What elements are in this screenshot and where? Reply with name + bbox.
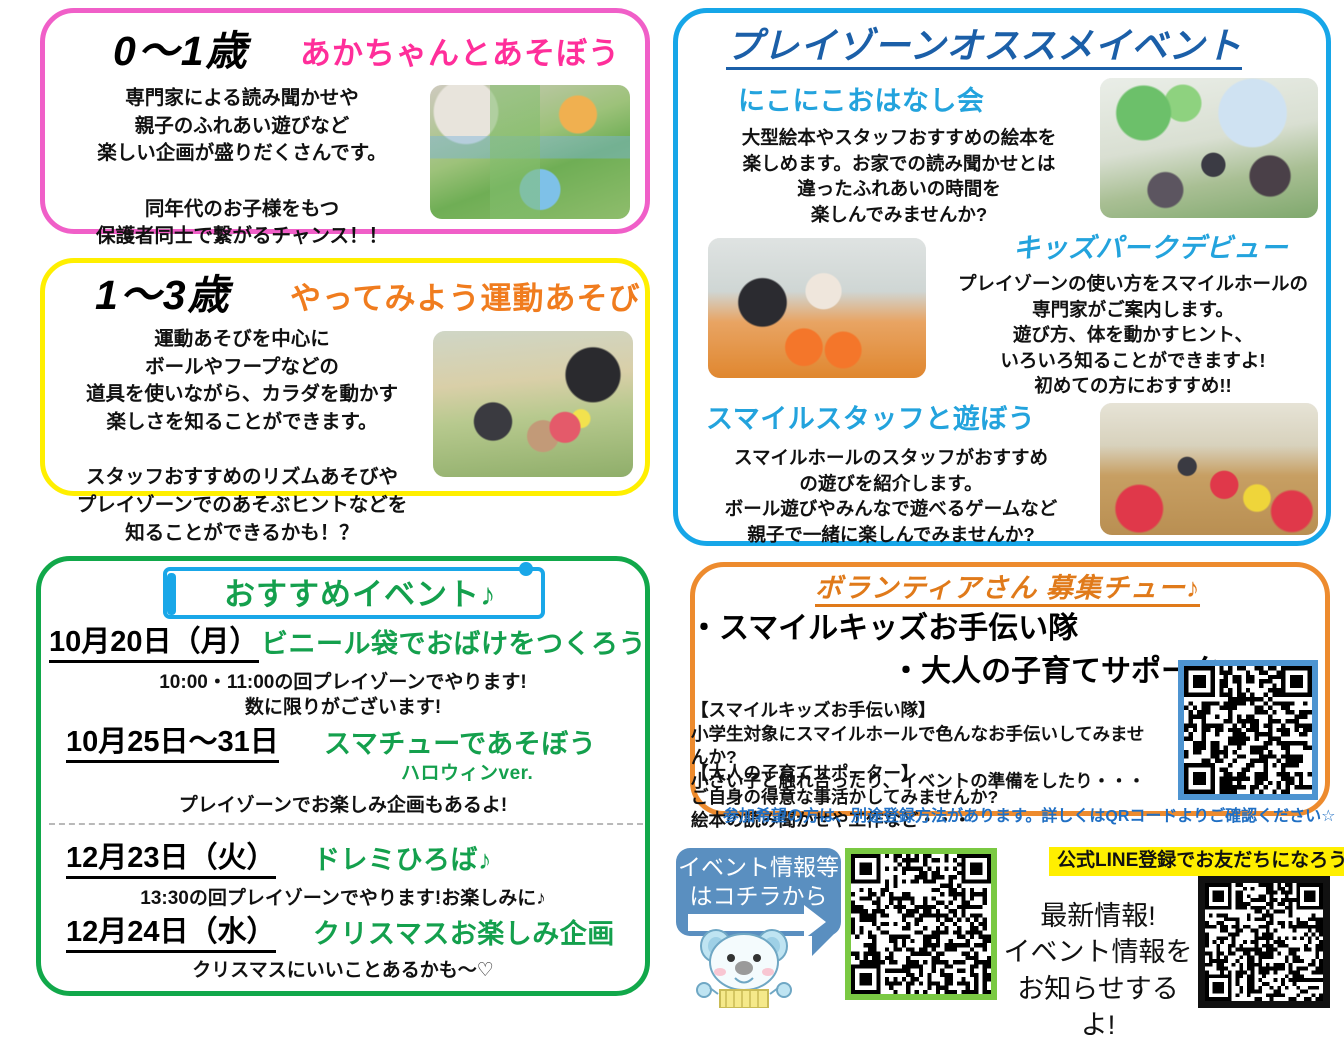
event-0-name: ビニール袋でおばけをつくろう [261,631,646,658]
playzone-events-box: プレイゾーンオススメイベント にこにこおはなし会 大型絵本やスタッフおすすめの絵… [673,8,1331,546]
event-2-name: ドレミひろば♪ [313,847,492,874]
event-0-note: 10:00・11:00の回プレイゾーンでやります! 数に限りがございます! [41,671,645,720]
volunteer-title: ボランティアさん 募集チュー♪ [815,575,1200,607]
official-line-qr[interactable] [1198,876,1330,1008]
gym-exercise-children-photo [433,331,633,477]
event-1-note: プレイゾーンでお楽しみ企画もあるよ! [41,794,645,819]
event-1-date: 10月25日〜31日 [66,728,279,763]
event-2-note: 13:30の回プレイゾーンでやります!お楽しみに♪ [41,887,645,912]
line-block-text: 最新情報! イベント情報を お知らせするよ! [1003,898,1193,1044]
age-box-0-1-body: 専門家による読み聞かせや 親子のふれあい遊びなど 楽しい企画が盛りだくさんです。… [63,85,421,251]
event-2-date: 12月23日（火） [66,844,276,879]
event-3-name: クリスマスお楽しみ企画 [313,921,615,948]
recommended-events-box: おすすめイベント♪ 10月20日（月） ビニール袋でおばけをつくろう 10:00… [36,556,650,996]
events-header-left-bar [167,573,176,615]
picture-book-reading-photo [1100,78,1318,218]
flyer-page: 0〜1歳 あかちゃんとあそぼう 専門家による読み聞かせや 親子のふれあい遊びなど… [0,0,1344,1008]
playzone-event-0-name: にこにこおはなし会 [738,88,984,115]
events-header-label: おすすめイベント♪ [224,579,497,610]
age-box-1-3-age-label: 1〜3歳 [95,275,231,316]
events-divider [49,823,643,825]
event-3-note: クリスマスにいいことあるかも〜♡ [41,959,645,984]
event-info-bubble-text: イベント情報等 はコチラから [676,853,841,911]
playzone-title: プレイゾーンオススメイベント [726,27,1242,70]
playzone-event-2-name: スマイルスタッフと遊ぼう [706,406,1035,433]
playzone-event-1-name: キッズパークデビュー [1013,235,1288,262]
volunteer-heading-1: ・スマイルキッズお手伝い隊 [689,614,1078,644]
event-info-qr[interactable] [845,848,997,1000]
volunteer-box: ボランティアさん 募集チュー♪ ・スマイルキッズお手伝い隊 ・大人の子育てサポー… [690,562,1330,816]
age-box-1-3-subtitle: やってみよう運動あそび [290,283,640,314]
event-3-date: 12月24日（水） [66,918,276,953]
event-1-name: スマチューであそぼう [324,731,596,758]
mouse-mascot-drawing [690,928,798,1008]
events-header-dot [519,562,533,576]
event-1-name-sub: ハロウィンver. [401,764,533,783]
age-box-0-1-age-label: 0〜1歳 [113,31,249,72]
playroom-babies-photo [430,85,630,219]
age-box-0-1: 0〜1歳 あかちゃんとあそぼう 専門家による読み聞かせや 親子のふれあい遊びなど… [40,8,650,234]
volunteer-registration-qr[interactable] [1178,660,1318,800]
playzone-event-0-body: 大型絵本やスタッフおすすめの絵本を 楽しめます。お家での読み聞かせとは 違ったふ… [694,125,1104,227]
age-box-1-3-body: 運動あそびを中心に ボールやフープなどの 道具を使いながら、カラダを動かす 楽し… [59,326,425,548]
line-banner: 公式LINE登録でお友だちになろう！ [1049,847,1344,876]
age-box-0-1-subtitle: あかちゃんとあそぼう [300,38,620,69]
volunteer-footnote: 参加希望の方は、別途登録方法があります。詳しくはQRコードよりご確認ください☆ [723,807,1335,826]
playzone-event-2-body: スマイルホールのスタッフがおすすめ の遊びを紹介します。 ボール遊びやみんなで遊… [686,445,1096,547]
playzone-event-1-body: プレイゾーンの使い方をスマイルホールの 専門家がご案内します。 遊び方、体を動か… [940,271,1326,399]
gym-ball-play-photo [1100,403,1318,535]
kids-park-cones-photo [708,238,926,378]
age-box-1-3: 1〜3歳 やってみよう運動あそび 運動あそびを中心に ボールやフープなどの 道具… [40,258,650,496]
event-0-date: 10月20日（月） [49,628,259,663]
